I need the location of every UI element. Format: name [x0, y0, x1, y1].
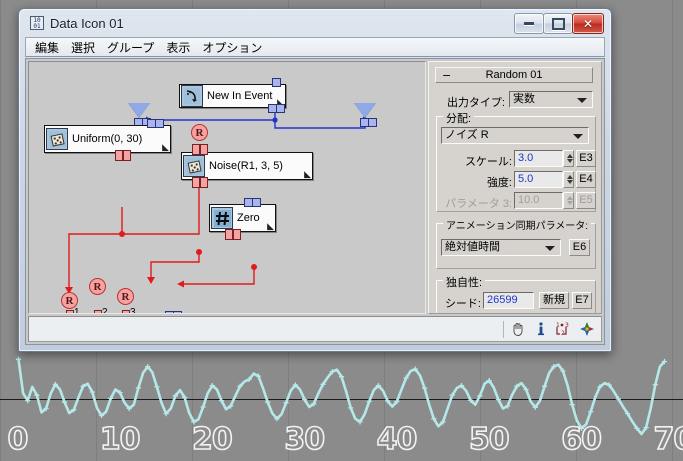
axis-tick-label: 10	[100, 425, 140, 455]
status-bar: 132	[28, 316, 602, 342]
info-icon[interactable]	[531, 320, 550, 339]
param-spinner-param3	[563, 192, 574, 209]
param-field-param3: 10.0	[514, 192, 563, 209]
menu-edit[interactable]: 編集	[29, 37, 65, 58]
menu-options[interactable]: オプション	[196, 37, 268, 58]
node-port-in[interactable]	[200, 144, 208, 155]
axis-tick-label: 20	[192, 425, 232, 455]
tool-strip: 132	[500, 318, 599, 340]
param-field-strength[interactable]: 5.0	[514, 171, 563, 188]
node-zero[interactable]: Zero ◣	[209, 204, 276, 232]
node-port-in[interactable]	[192, 144, 200, 155]
node-port-in[interactable]	[252, 198, 261, 207]
param-button-e4[interactable]: E4	[576, 171, 596, 188]
output-type-value: 実数	[513, 93, 535, 105]
close-icon: ✕	[573, 14, 603, 33]
node-port-out[interactable]	[200, 177, 208, 188]
resize-grip-icon[interactable]: ◣	[264, 222, 274, 231]
resize-grip-icon[interactable]: ◣	[301, 170, 311, 179]
menu-view[interactable]: 表示	[160, 37, 196, 58]
maximize-button[interactable]	[543, 13, 573, 34]
param-spinner-scale[interactable]	[563, 150, 574, 167]
dice-icon	[46, 128, 68, 150]
node-port-out[interactable]	[123, 150, 131, 161]
node-uniform[interactable]: Uniform(0, 30) ◣	[44, 125, 171, 153]
slot-port-3[interactable]	[122, 310, 130, 314]
param-label-param3: パラメータ 3:	[433, 195, 512, 211]
axis-tick-label: 60	[561, 425, 601, 455]
uniqueness-group-title: 独自性:	[443, 274, 485, 290]
param-button-e5: E5	[576, 192, 596, 209]
node-port-out[interactable]	[233, 229, 241, 240]
minimize-button[interactable]	[514, 13, 544, 34]
numbering-icon[interactable]: 132	[554, 320, 573, 339]
animation-sync-button-e6[interactable]: E6	[569, 239, 590, 256]
node-port-in[interactable]	[368, 118, 377, 127]
maximize-icon	[544, 14, 572, 33]
menu-select[interactable]: 選択	[65, 37, 101, 58]
node-port-out[interactable]	[115, 150, 123, 161]
slot-number-1: 1	[74, 307, 80, 314]
axis-tick-label: 0	[7, 425, 27, 455]
pan-hand-icon[interactable]	[508, 320, 527, 339]
close-button[interactable]: ✕	[572, 13, 604, 34]
node-port-in[interactable]	[155, 119, 164, 128]
distribution-group-title: 分配:	[443, 110, 474, 126]
command-panel: − Random 01 出力タイプ: 実数 分配: ノイズ R スケール: 3.…	[428, 61, 602, 314]
binary-data-icon: 1001	[30, 16, 44, 30]
title-bar[interactable]: 1001 Data Icon 01 ✕	[23, 12, 607, 34]
seed-field[interactable]: 26599	[483, 292, 534, 309]
r-node[interactable]: R	[191, 124, 208, 141]
param-spinner-strength[interactable]	[563, 171, 574, 188]
node-port-out[interactable]	[192, 177, 200, 188]
r-node[interactable]: R	[117, 288, 134, 305]
output-triangle-right[interactable]	[354, 103, 376, 118]
minimize-icon	[515, 14, 543, 33]
chevron-down-icon	[545, 246, 555, 251]
node-canvas[interactable]: New In Event ◣ Uniform(0, 30) ◣	[28, 61, 426, 314]
axis-tick-label: 30	[284, 425, 324, 455]
waveform-chart: 010203040506070	[0, 355, 683, 461]
node-noise[interactable]: Noise(R1, 3, 5) ◣	[181, 152, 313, 180]
animation-sync-group-title: アニメーション同期パラメータ:	[443, 217, 591, 232]
output-type-label: 出力タイプ:	[437, 94, 505, 110]
distribution-select[interactable]: ノイズ R	[441, 127, 589, 144]
navigator-icon[interactable]	[577, 320, 596, 339]
window-title: Data Icon 01	[50, 15, 124, 33]
output-triangle-left[interactable]	[128, 103, 150, 118]
hash-icon	[211, 207, 233, 229]
animation-sync-value: 絶対値時間	[445, 241, 500, 253]
app-window: 1001 Data Icon 01 ✕ 編集選択グループ表示オプション	[18, 8, 612, 352]
chevron-down-icon	[577, 98, 587, 103]
param-label-scale: スケール:	[439, 153, 512, 169]
seed-button-e7[interactable]: E7	[572, 292, 592, 309]
axis-tick-label: 50	[469, 425, 509, 455]
node-label: Uniform(0, 30)	[72, 133, 156, 145]
distribution-value: ノイズ R	[445, 129, 489, 141]
new-seed-button[interactable]: 新規	[539, 292, 569, 309]
r-node[interactable]: R	[89, 278, 106, 295]
divider	[503, 321, 504, 338]
node-port-out[interactable]	[225, 229, 233, 240]
dice-icon	[183, 155, 205, 177]
param-field-scale[interactable]: 3.0	[514, 150, 563, 167]
slot-port-2[interactable]	[94, 310, 102, 314]
slot-number-2: 2	[102, 307, 108, 314]
chevron-down-icon	[573, 134, 583, 139]
seed-label: シード:	[439, 295, 481, 311]
axis-tick-label: 70	[654, 425, 683, 455]
client-area: New In Event ◣ Uniform(0, 30) ◣	[25, 58, 605, 345]
param-button-e3[interactable]: E3	[576, 150, 596, 167]
event-arrow-icon	[181, 85, 203, 107]
node-label: Noise(R1, 3, 5)	[209, 160, 297, 172]
event-block-port[interactable]	[173, 311, 182, 314]
node-port-in[interactable]	[272, 78, 281, 87]
menu-group[interactable]: グループ	[101, 37, 160, 58]
rollout-header-random[interactable]: − Random 01	[435, 67, 593, 83]
menu-bar: 編集選択グループ表示オプション	[25, 37, 605, 57]
resize-grip-icon[interactable]: ◣	[159, 143, 169, 152]
slot-port-1[interactable]	[66, 310, 74, 314]
rollout-collapse-icon[interactable]: −	[442, 68, 451, 83]
node-port-out[interactable]	[276, 104, 285, 113]
axis-tick-label: 40	[377, 425, 417, 455]
output-type-select[interactable]: 実数	[509, 91, 593, 108]
animation-sync-select[interactable]: 絶対値時間	[441, 239, 561, 256]
rollout-title: Random 01	[486, 69, 543, 81]
param-label-strength: 強度:	[439, 174, 512, 190]
slot-number-3: 3	[130, 307, 136, 314]
